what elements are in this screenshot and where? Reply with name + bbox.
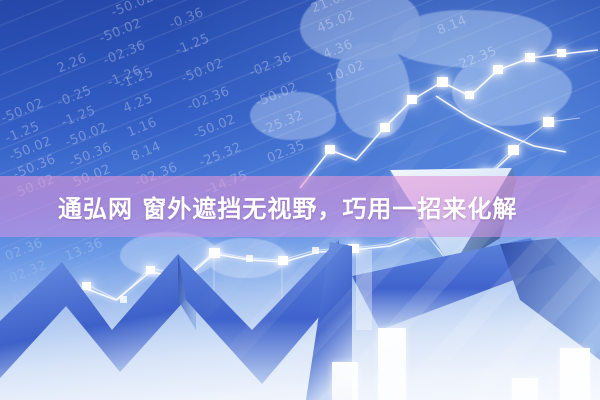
title-overlay-band: 通弘网 窗外遮挡无视野，巧用一招来化解 [0,176,600,237]
banner-title-text: 通弘网 窗外遮挡无视野，巧用一招来化解 [58,189,517,224]
bar-chart-column [332,362,358,400]
bar-chart-column [512,378,538,400]
bar-chart-column [378,328,406,400]
bar-chart-column [560,348,590,400]
stock-market-banner-image: -50.02-1.25-50.02-50.3650.02-0.25-1.25-5… [0,0,600,400]
